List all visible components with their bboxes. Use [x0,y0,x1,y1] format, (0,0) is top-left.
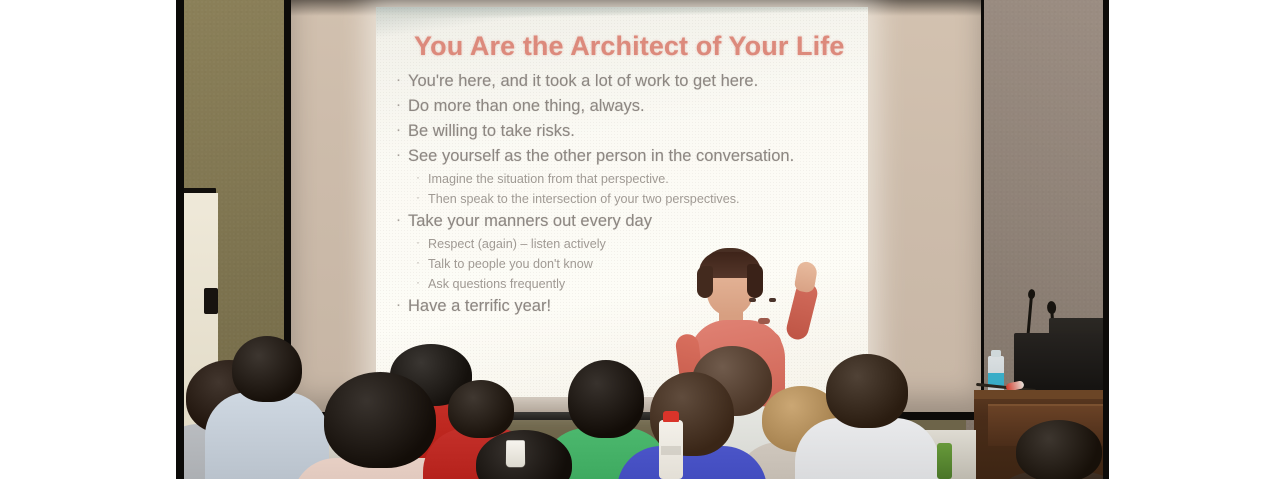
attendee-white-tee-head [826,354,908,428]
lecture-photo: You Are the Architect of Your Life You'r… [176,0,1109,479]
monitor [1014,333,1109,395]
attendee-far-right-head [1016,420,1102,479]
attendee-green-shirt-head [568,360,644,438]
red-cap-water-bottle [659,420,683,479]
attendee-lightblue-shirt-head [232,336,302,402]
green-bottle [937,443,952,479]
attendee-red-shirt-head [448,380,514,438]
screenshot-root: You Are the Architect of Your Life You'r… [0,0,1276,479]
photo-pillarbox-left [176,0,184,479]
paper-cup [506,440,525,467]
page-margin-left [0,0,176,479]
page-margin-right [1109,0,1276,479]
attendee-plaid-shirt-head [324,372,436,468]
whiteboard-tray [204,288,218,314]
podium-lip [974,390,1109,399]
